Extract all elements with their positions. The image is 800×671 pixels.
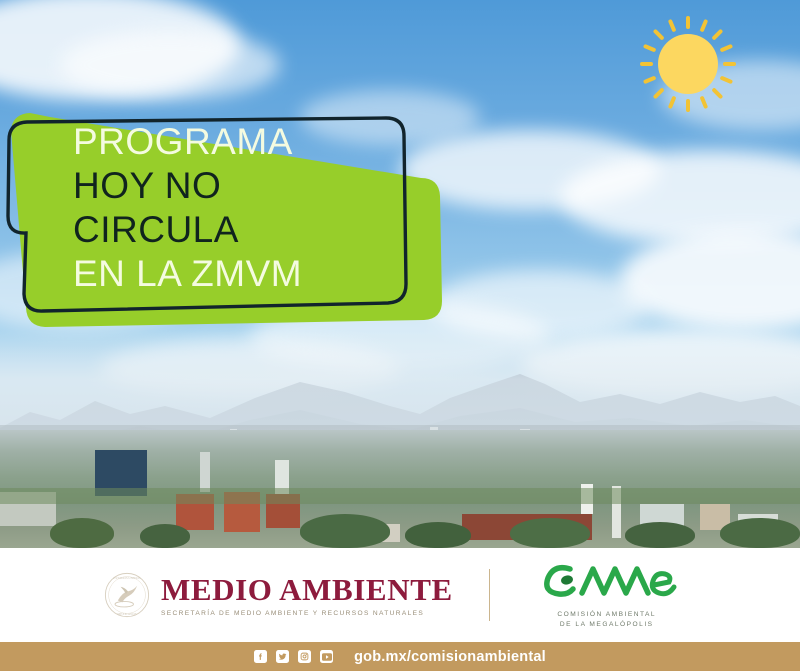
semarnat-logo: ESTADOS UNIDOS MEXICANOS MEDIO AMBIENTE … (104, 572, 453, 618)
tree-cluster (300, 514, 390, 548)
twitter-icon[interactable] (276, 650, 289, 663)
foreground-cityscape (0, 430, 800, 548)
svg-text:MEXICANOS: MEXICANOS (117, 612, 136, 616)
sun-icon (640, 16, 736, 112)
cloud (60, 30, 280, 100)
bottom-bar: gob.mx/comisionambiental (0, 642, 800, 671)
website-url[interactable]: gob.mx/comisionambiental (354, 649, 546, 665)
green-belt (0, 488, 800, 504)
semarnat-text: MEDIO AMBIENTE SECRETARÍA DE MEDIO AMBIE… (161, 574, 453, 617)
semarnat-subtitle: SECRETARÍA DE MEDIO AMBIENTE Y RECURSOS … (161, 610, 453, 617)
tree-cluster (140, 524, 190, 548)
headline-line-3: CIRCULA (73, 211, 433, 248)
footer-divider (489, 569, 490, 621)
logo-footer: ESTADOS UNIDOS MEXICANOS MEDIO AMBIENTE … (0, 548, 800, 642)
semarnat-title: MEDIO AMBIENTE (161, 574, 453, 605)
came-subtitle: COMISIÓN AMBIENTAL DE LA MEGALÓPOLIS (532, 610, 682, 629)
poster-canvas: PROGRAMA HOY NO CIRCULA EN LA ZMVM ESTAD… (0, 0, 800, 671)
svg-text:ESTADOS UNIDOS: ESTADOS UNIDOS (113, 576, 140, 580)
came-wordmark-icon (532, 560, 682, 600)
tree-cluster (50, 518, 114, 548)
came-subtitle-line2: DE LA MEGALÓPOLIS (532, 620, 682, 630)
headline-line-2: HOY NO (73, 167, 433, 204)
mexican-coat-of-arms-icon: ESTADOS UNIDOS MEXICANOS (104, 572, 150, 618)
building (200, 452, 210, 492)
tree-cluster (720, 518, 800, 548)
came-subtitle-line1: COMISIÓN AMBIENTAL (532, 610, 682, 620)
instagram-icon[interactable] (298, 650, 311, 663)
tree-cluster (510, 518, 590, 548)
headline-line-1: PROGRAMA (73, 123, 433, 160)
sun-disc (658, 34, 718, 94)
tree-cluster (625, 522, 695, 548)
youtube-icon[interactable] (320, 650, 333, 663)
tree-cluster (405, 522, 471, 548)
cloud (620, 230, 800, 330)
headline-line-4: EN LA ZMVM (73, 255, 433, 292)
came-logo: COMISIÓN AMBIENTAL DE LA MEGALÓPOLIS (532, 560, 682, 629)
facebook-icon[interactable] (254, 650, 267, 663)
headline-text: PROGRAMA HOY NO CIRCULA EN LA ZMVM (73, 123, 433, 299)
headline-block: PROGRAMA HOY NO CIRCULA EN LA ZMVM (0, 95, 470, 350)
